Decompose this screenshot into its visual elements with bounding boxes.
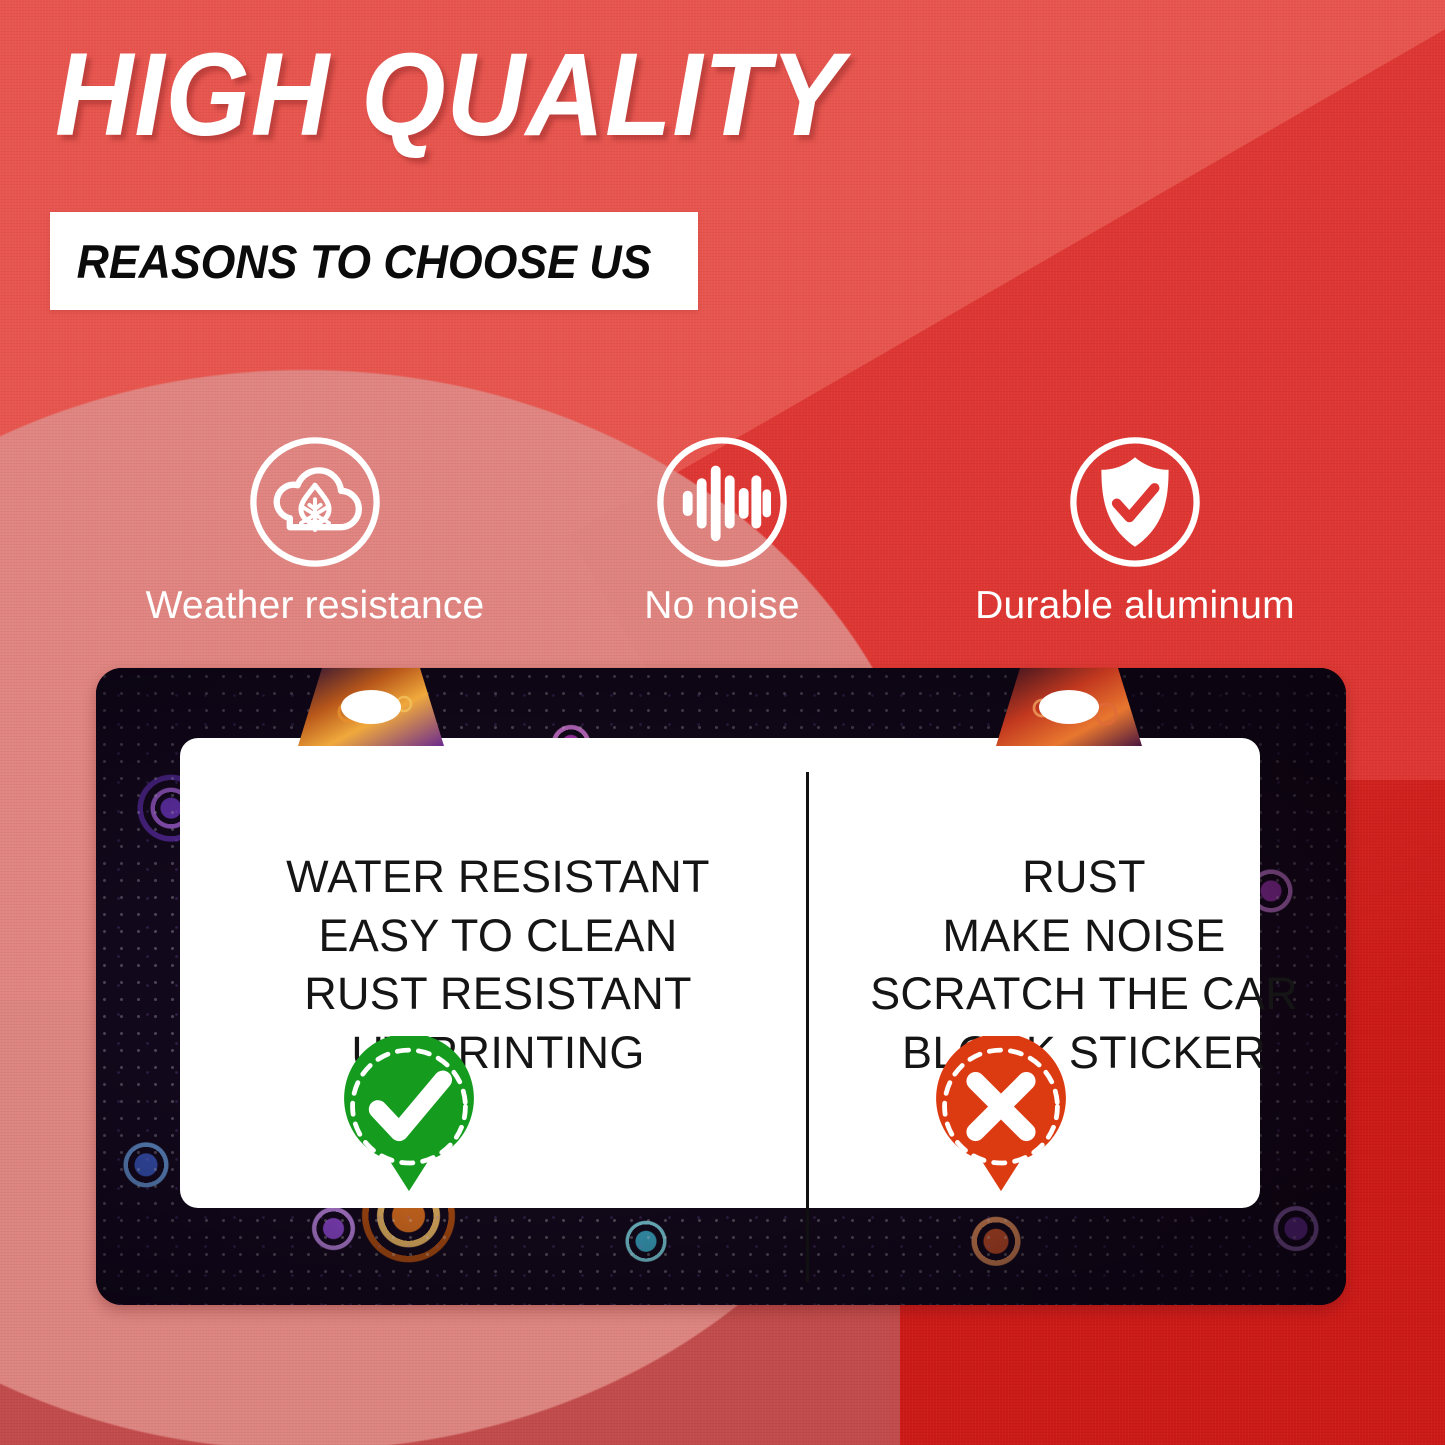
infographic-canvas: HIGH QUALITY REASONS TO CHOOSE US — [0, 0, 1445, 1445]
cons-item: RUST — [1022, 848, 1146, 907]
cross-badge-icon — [922, 1036, 1080, 1194]
pros-item: EASY TO CLEAN — [318, 907, 677, 966]
shield-check-icon — [1065, 432, 1205, 572]
feature-label: No noise — [644, 584, 800, 628]
feature-label: Durable aluminum — [975, 584, 1295, 628]
pros-item: RUST RESISTANT — [304, 965, 692, 1024]
subtitle-banner: REASONS TO CHOOSE US — [50, 212, 698, 310]
mount-tab-right — [996, 668, 1142, 746]
license-plate-frame: WATER RESISTANT EASY TO CLEAN RUST RESIS… — [96, 668, 1346, 1305]
pros-column: WATER RESISTANT EASY TO CLEAN RUST RESIS… — [238, 848, 758, 1082]
feature-label: Weather resistance — [146, 584, 485, 628]
subtitle-text: REASONS TO CHOOSE US — [50, 234, 651, 289]
cons-item: MAKE NOISE — [942, 907, 1225, 966]
comparison-divider — [806, 772, 809, 1282]
feature-durable-aluminum: Durable aluminum — [925, 432, 1345, 628]
cons-column: RUST MAKE NOISE SCRATCH THE CAR BLOCK ST… — [824, 848, 1344, 1082]
weather-cloud-droplet-snowflake-icon — [245, 432, 385, 572]
feature-row: Weather resistance No noise — [0, 432, 1445, 647]
mount-tab-left — [298, 668, 444, 746]
pros-item: WATER RESISTANT — [286, 848, 710, 907]
feature-weather-resistance: Weather resistance — [105, 432, 525, 628]
cons-item: SCRATCH THE CAR — [870, 965, 1298, 1024]
screw-hole — [1039, 690, 1099, 724]
screw-hole — [341, 690, 401, 724]
feature-no-noise: No noise — [512, 432, 932, 628]
page-title: HIGH QUALITY — [55, 36, 844, 154]
check-badge-icon — [330, 1036, 488, 1194]
sound-wave-icon — [652, 432, 792, 572]
